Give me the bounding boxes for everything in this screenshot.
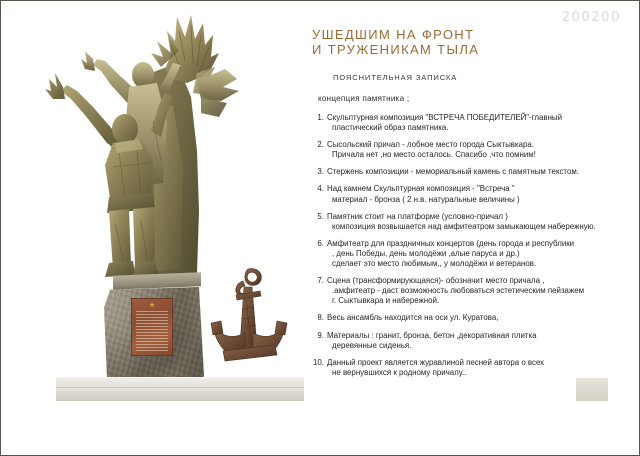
note-item-line: Весь ансамбль находится на оси ул. Курат… <box>327 313 635 323</box>
note-item: 2.Сысольский причал - лобное место город… <box>308 140 635 160</box>
note-item: 7.Сцена (трансформирующаяся)- обозначит … <box>308 276 635 306</box>
note-item-body: Данный проект является журавлиной песней… <box>327 358 635 378</box>
concept-label: концепция памятника ; <box>318 94 409 103</box>
note-item: 3.Стержень композиции - мемориальный кам… <box>308 167 635 177</box>
note-item-line: пластический образ памятника. <box>327 123 635 133</box>
note-item: 10.Данный проект является журавлиной пес… <box>308 358 635 378</box>
note-item-line: Сцена (трансформирующаяся)- обозначит ме… <box>327 276 635 286</box>
note-item-body: Скульптурная композиция "ВСТРЕЧА ПОБЕДИТ… <box>327 113 635 133</box>
note-item-line: г. Сыктывкара и набережной. <box>327 296 635 306</box>
note-item: 9.Материалы : гранит, бронза, бетон ,дек… <box>308 331 635 351</box>
note-item-number: 9. <box>308 331 327 351</box>
note-item: 5.Памятник стоит на платформе (условно-п… <box>308 212 635 232</box>
page-title-line-1: УШЕДШИМ НА ФРОНТ <box>312 27 474 42</box>
explanatory-note-panel: 200200 УШЕДШИМ НА ФРОНТ И ТРУЖЕНИКАМ ТЫЛ… <box>306 1 639 455</box>
note-item-line: Сысольский причал - лобное место города … <box>327 140 635 150</box>
note-item-body: Амфитеатр для праздничных концертов (ден… <box>327 239 635 269</box>
note-item-body: Стержень композиции - мемориальный камен… <box>327 167 635 177</box>
note-item-line: деревянные сиденья. <box>327 341 635 351</box>
sheet-serial-number: 200200 <box>562 10 621 25</box>
note-item: 8.Весь ансамбль находится на оси ул. Кур… <box>308 313 635 323</box>
note-item-line: Стержень композиции - мемориальный камен… <box>327 167 635 177</box>
monument-platform <box>56 377 304 401</box>
note-item-line: .амфитеатр - даст возможность любоваться… <box>327 286 635 296</box>
note-item-number: 3. <box>308 167 327 177</box>
numbered-notes-list: 1.Скульптурная композиция "ВСТРЕЧА ПОБЕД… <box>308 113 635 385</box>
note-item-body: Сцена (трансформирующаяся)- обозначит ме… <box>327 276 635 306</box>
page-title: УШЕДШИМ НА ФРОНТ И ТРУЖЕНИКАМ ТЫЛА <box>312 27 479 57</box>
plaque-inscription-lines <box>136 311 168 351</box>
note-item-number: 7. <box>308 276 327 306</box>
note-item-line: материал - бронза ( 2 н.в. натуральные в… <box>327 195 635 205</box>
note-item-line: , день Победы, день молодёжи ,алые парус… <box>327 249 635 259</box>
note-item-line: Данный проект является журавлиной песней… <box>327 358 635 368</box>
note-item-number: 8. <box>308 313 327 323</box>
note-item: 4. Над камнем Скульптурная композиция - … <box>308 184 635 204</box>
note-item: 6.Амфитеатр для праздничных концертов (д… <box>308 239 635 269</box>
monument-illustration: ★ <box>1 1 306 411</box>
presentation-sheet: ★ <box>0 0 640 456</box>
note-item-body: Материалы : гранит, бронза, бетон ,декор… <box>327 331 635 351</box>
star-icon: ★ <box>149 302 155 309</box>
anchor-sculpture <box>199 265 293 377</box>
note-item-line: Причала нет ,но место осталось. Спасибо … <box>327 150 635 160</box>
material-swatch <box>576 378 608 401</box>
section-subtitle: ПОЯСНИТЕЛЬНАЯ ЗАПИСКА <box>333 73 457 82</box>
note-item: 1.Скульптурная композиция "ВСТРЕЧА ПОБЕД… <box>308 113 635 133</box>
note-item-body: Весь ансамбль находится на оси ул. Курат… <box>327 313 635 323</box>
note-item-number: 5. <box>308 212 327 232</box>
note-item-number: 4. <box>308 184 327 204</box>
sculpture-group <box>1 1 306 291</box>
memorial-plaque: ★ <box>131 298 173 356</box>
note-item-line: Скульптурная композиция "ВСТРЕЧА ПОБЕДИТ… <box>327 113 635 123</box>
note-item-number: 10. <box>308 358 327 378</box>
note-item-line: Амфитеатр для праздничных концертов (ден… <box>327 239 635 249</box>
note-item-line: композиция возвышается над амфитеатром з… <box>327 222 635 232</box>
page-title-line-2: И ТРУЖЕНИКАМ ТЫЛА <box>312 42 479 57</box>
note-item-body: Памятник стоит на платформе (условно-при… <box>327 212 635 232</box>
note-item-number: 6. <box>308 239 327 269</box>
note-item-line: Над камнем Скульптурная композиция - "Вс… <box>327 184 635 194</box>
note-item-line: не вернувшихся к родному причалу.. <box>327 368 635 378</box>
note-item-line: сделает это место любимым,, у молодёжи и… <box>327 259 635 269</box>
note-item-number: 2. <box>308 140 327 160</box>
note-item-line: Памятник стоит на платформе (условно-при… <box>327 212 635 222</box>
note-item-number: 1. <box>308 113 327 133</box>
note-item-body: Сысольский причал - лобное место города … <box>327 140 635 160</box>
note-item-body: Над камнем Скульптурная композиция - "Вс… <box>327 184 635 204</box>
note-item-line: Материалы : гранит, бронза, бетон ,декор… <box>327 331 635 341</box>
